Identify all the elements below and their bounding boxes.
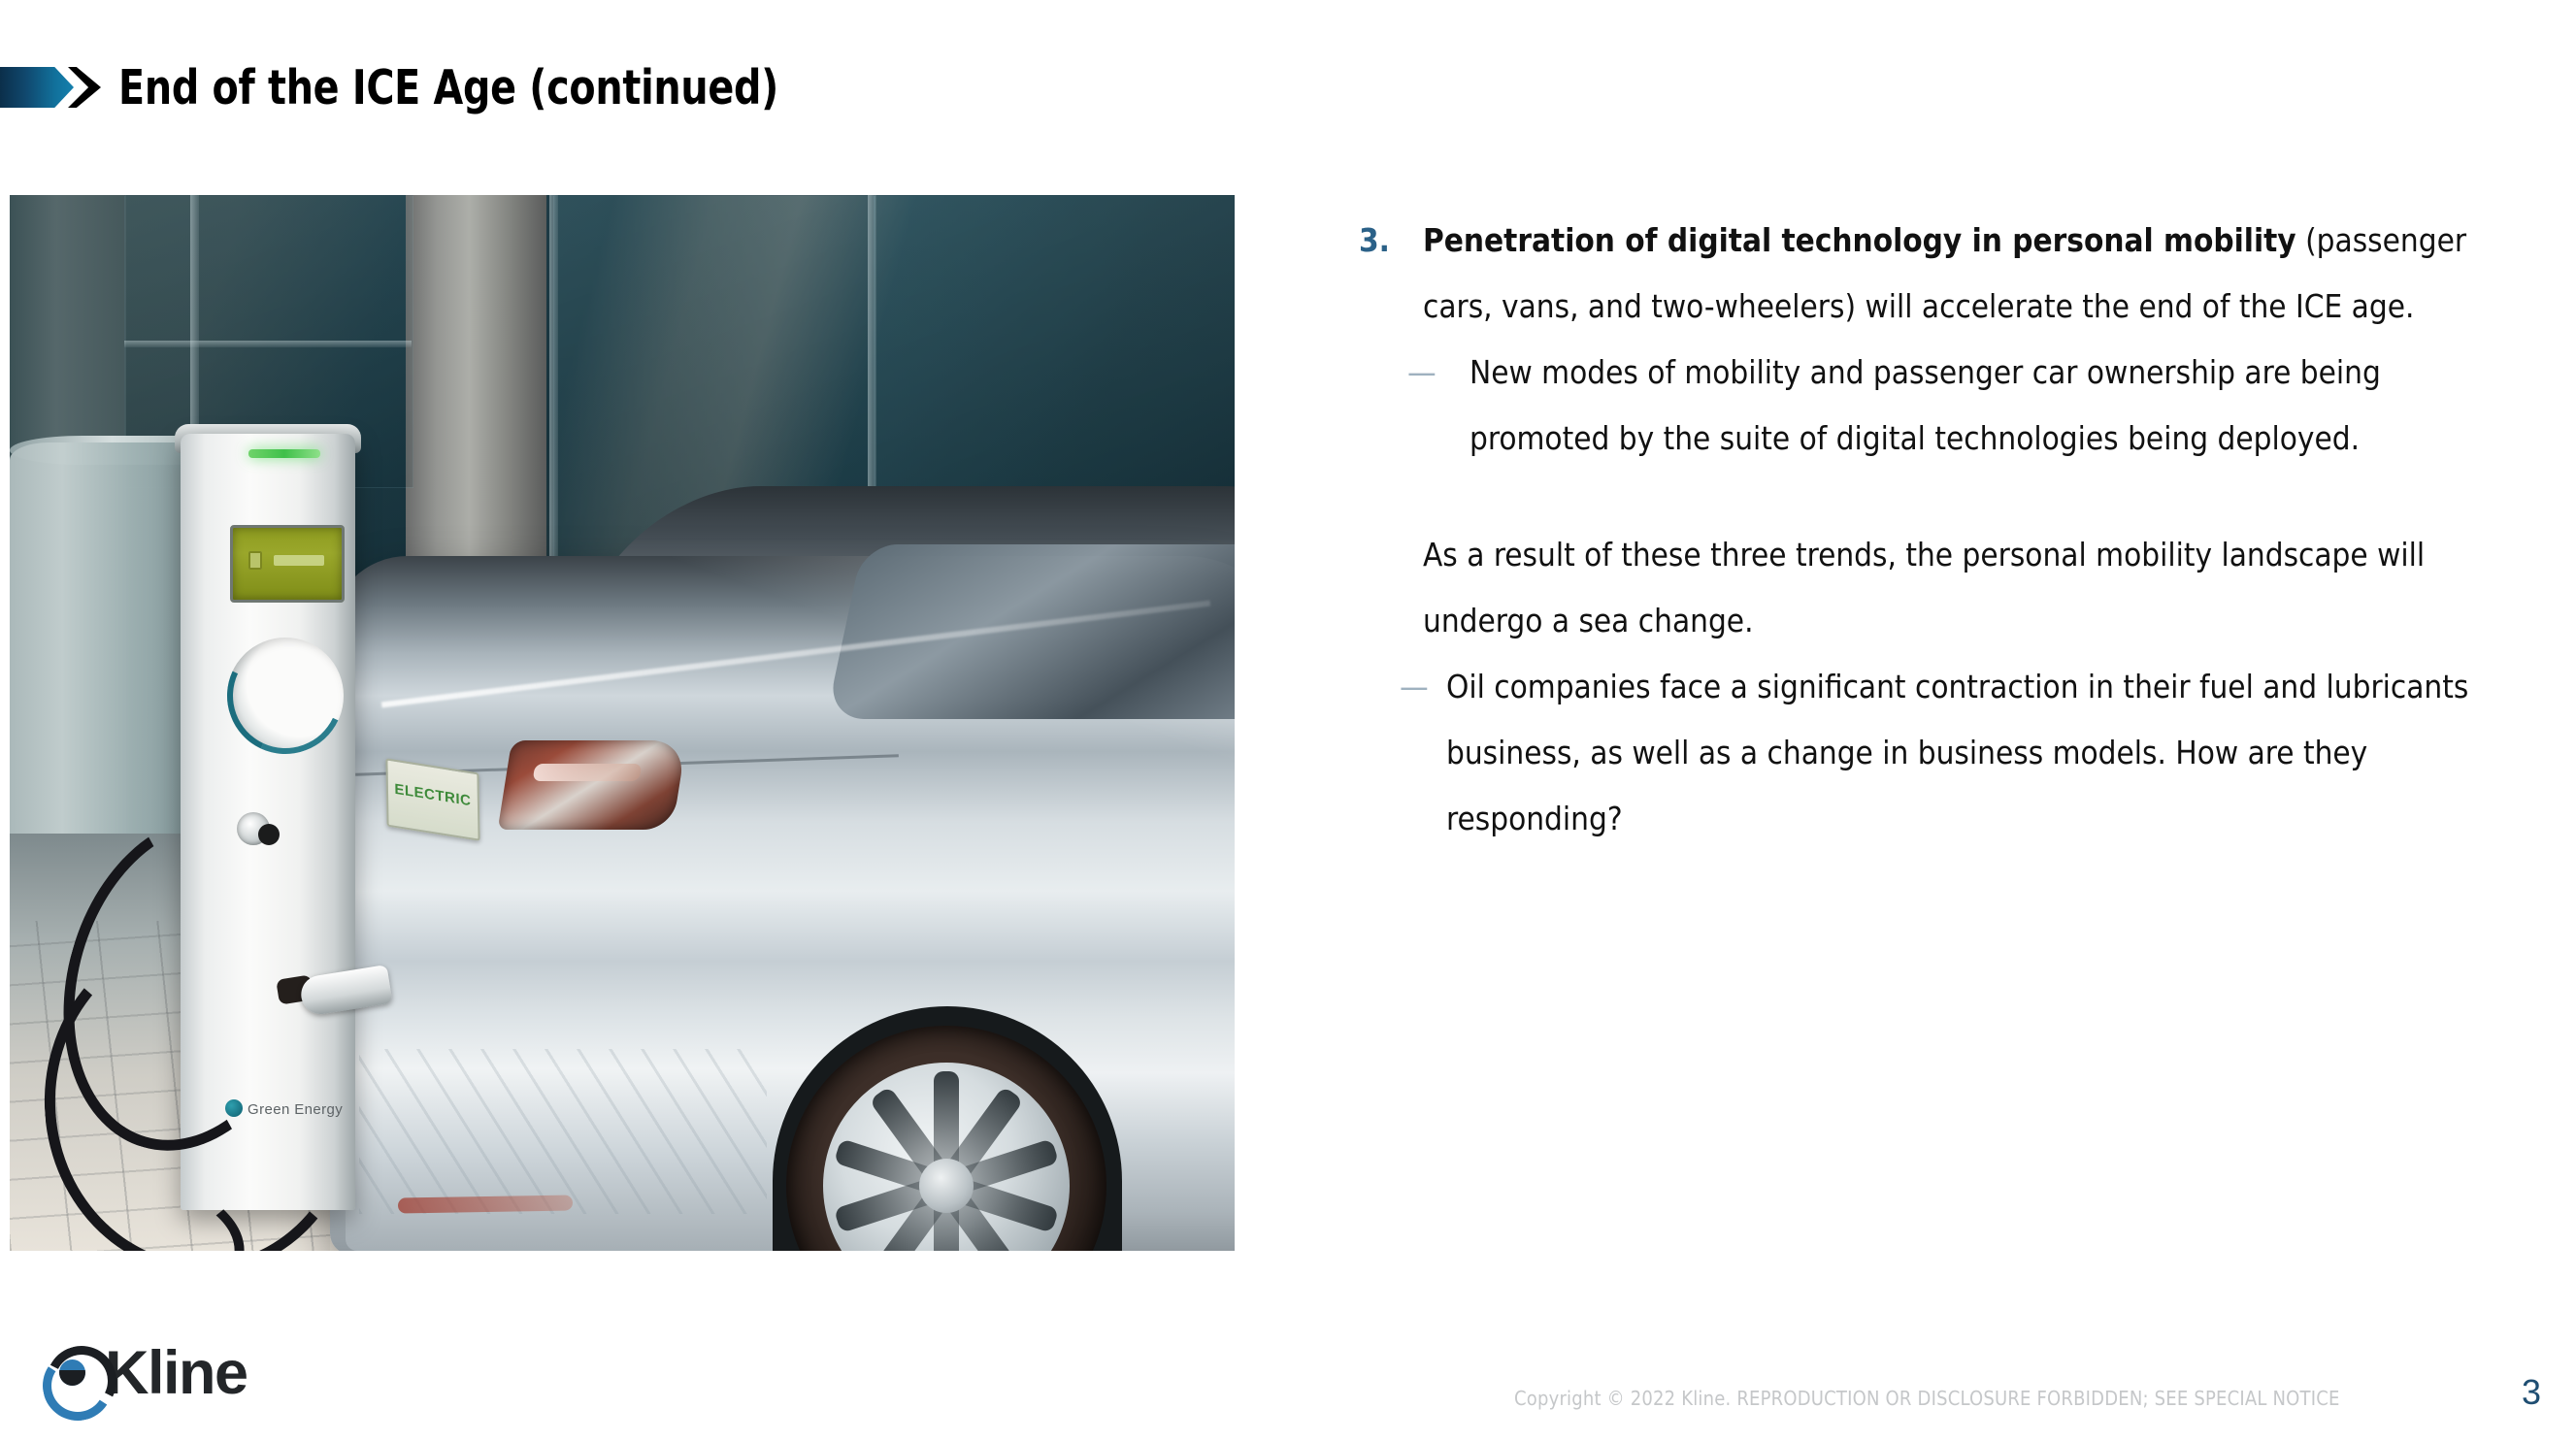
closing-bullet-item: — Oil companies face a significant contr… [1353, 654, 2508, 852]
slide-title-bar: End of the ICE Age (continued) [0, 54, 852, 120]
numbered-list-item-3: 3. Penetration of digital technology in … [1353, 208, 2508, 340]
slide-body-content: 3. Penetration of digital technology in … [1353, 208, 2508, 852]
dash-bullet-icon: — [1407, 340, 1437, 406]
page-number: 3 [2522, 1372, 2541, 1413]
copyright-notice: Copyright © 2022 Kline. REPRODUCTION OR … [1514, 1387, 2340, 1410]
charger-screen-label [274, 555, 324, 566]
closing-bullet-text: Oil companies face a significant contrac… [1446, 668, 2468, 837]
page-title: End of the ICE Age (continued) [118, 64, 778, 112]
kline-swirl-logo-icon [43, 1343, 103, 1403]
charger-status-led [248, 449, 320, 458]
car-rear-window [826, 544, 1235, 719]
pennant-shape [0, 67, 74, 108]
bumper-reflection [359, 1049, 767, 1214]
spacer [1353, 472, 2508, 522]
photo-scene: ELECTRIC [10, 195, 1235, 1251]
list-item-bold-lead: Penetration of digital technology in per… [1423, 221, 2296, 259]
kline-logo: Kline [43, 1337, 248, 1409]
bumper-reflector [398, 1195, 573, 1213]
license-plate-text: ELECTRIC [388, 780, 478, 811]
wheel-hub [919, 1159, 974, 1213]
logo-center-dot [59, 1359, 85, 1386]
car-taillight [498, 740, 687, 830]
charger-battery-icon [248, 551, 262, 570]
sub-bullet-text: New modes of mobility and passenger car … [1470, 353, 2381, 457]
logo-wordmark: Kline [105, 1343, 248, 1404]
summary-paragraph: As a result of these three trends, the p… [1353, 522, 2508, 654]
list-number: 3. [1359, 208, 1390, 274]
ev-charging-station-photo: ELECTRIC [10, 195, 1235, 1251]
blue-chevron-pennant-icon [0, 60, 118, 115]
charger-display-screen [230, 525, 345, 603]
slide: End of the ICE Age (continued) [0, 0, 2576, 1441]
car-taillight-bar [533, 764, 643, 781]
sub-bullet-item: — New modes of mobility and passenger ca… [1353, 340, 2508, 472]
dash-bullet-icon: — [1400, 654, 1429, 720]
window-mullion [124, 341, 412, 347]
